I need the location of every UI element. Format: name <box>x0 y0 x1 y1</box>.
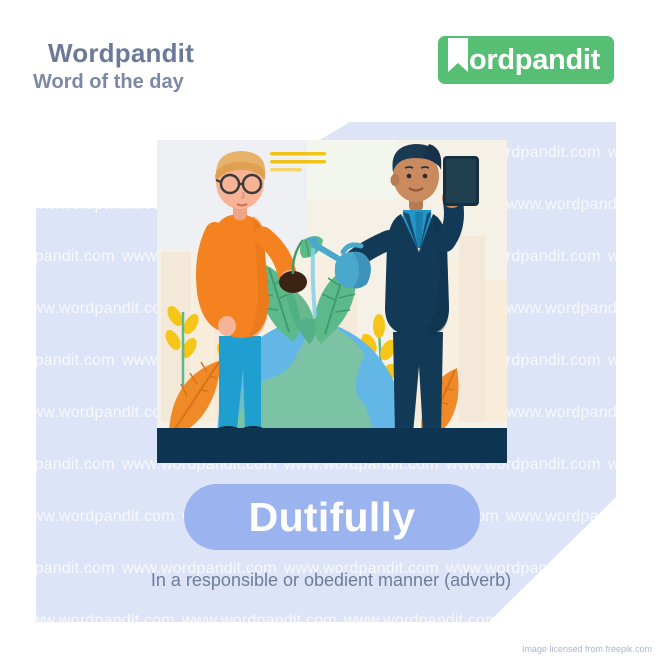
illustration <box>157 140 507 463</box>
word-text: Dutifully <box>249 494 416 541</box>
word-definition: In a responsible or obedient manner (adv… <box>0 570 662 591</box>
bookmark-w-icon <box>446 38 470 82</box>
word-of-the-day-card: www.wordpandit.comwww.wordpandit.comwww.… <box>0 0 662 662</box>
logo-text: ordpandit <box>469 46 600 75</box>
page-title: Wordpandit <box>48 38 194 69</box>
page-subtitle: Word of the day <box>33 71 184 94</box>
word-badge: Dutifully <box>184 484 480 550</box>
watermark-text: www.wordpandit.com <box>20 404 175 422</box>
tablet-icon <box>443 156 479 206</box>
ground-strip <box>157 428 507 463</box>
wordpandit-logo[interactable]: ordpandit <box>438 36 614 84</box>
image-credit: Image licensed from freepik.com <box>522 644 652 654</box>
illustration-svg <box>157 140 507 463</box>
watermark-text: www.wordpandit.com <box>20 300 175 318</box>
watermark-text: www.wordpandit.com <box>20 508 175 526</box>
